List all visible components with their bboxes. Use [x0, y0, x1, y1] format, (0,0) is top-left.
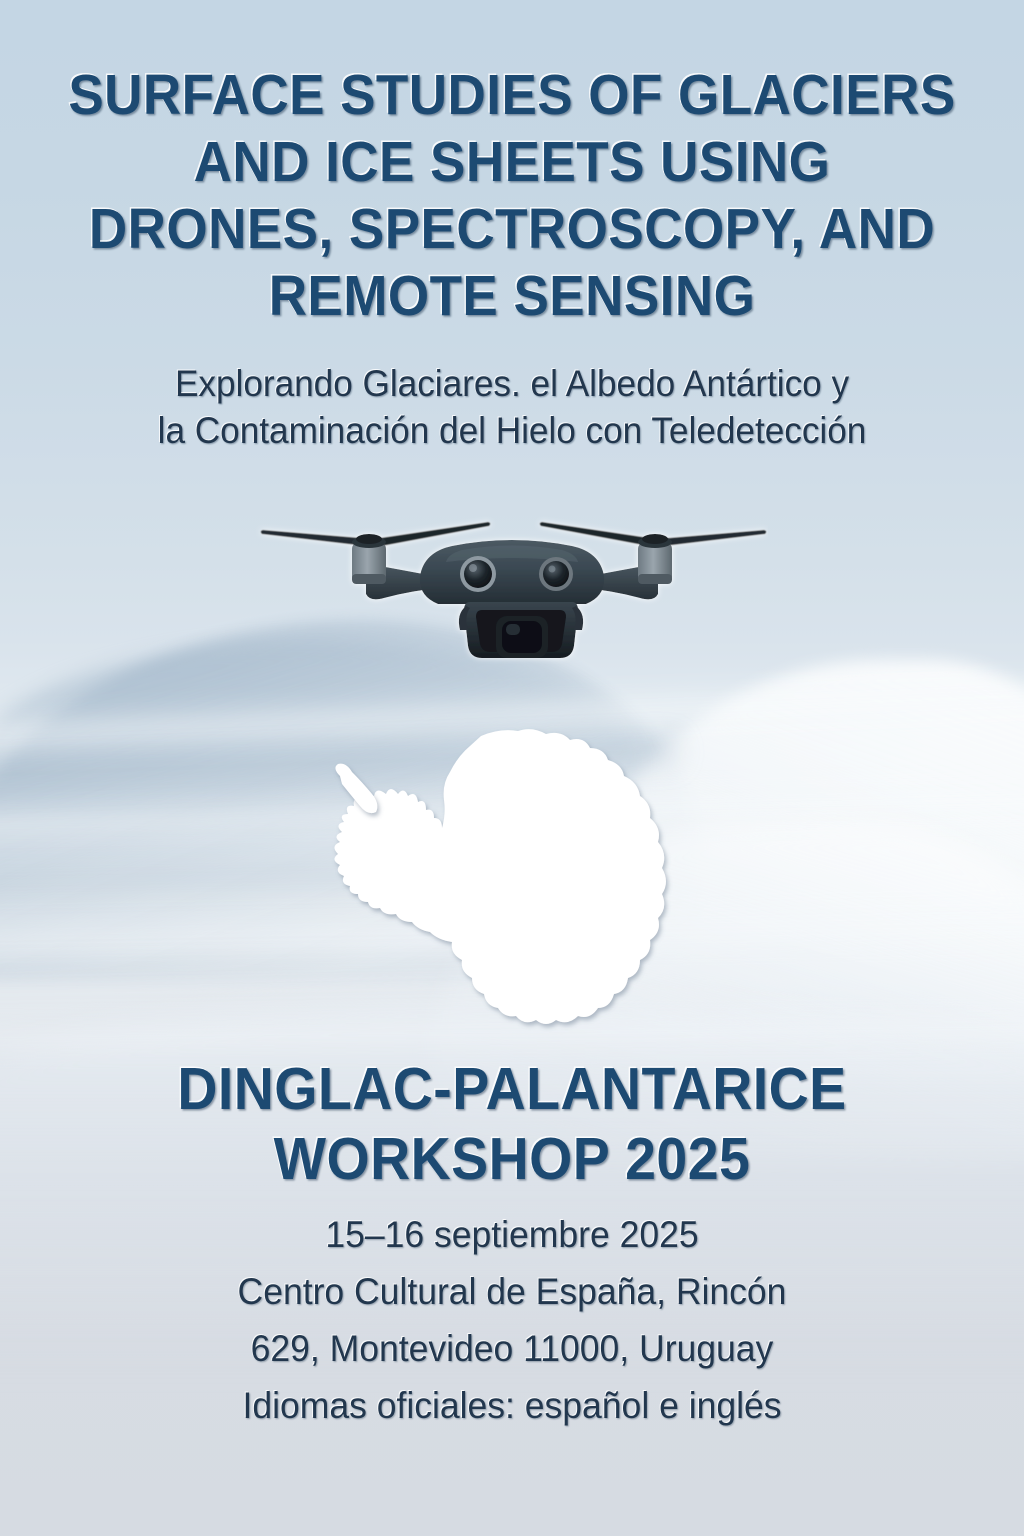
poster-subtitle-line-2: la Contaminación del Hielo con Teledetec… [26, 407, 999, 454]
antarctica-path [334, 729, 666, 1024]
poster-title: SURFACE STUDIES OF GLACIERS AND ICE SHEE… [36, 62, 988, 330]
event-languages: Idiomas oficiales: español e inglés [20, 1377, 1003, 1434]
camera-lens-highlight [506, 624, 520, 635]
event-title: DINGLAC-PALANTARICE WORKSHOP 2025 [31, 1054, 994, 1194]
sensor-lens-right [539, 557, 573, 591]
drone-illustration [256, 498, 768, 678]
poster-title-line-3: DRONES, SPECTROSCOPY, AND [36, 196, 988, 263]
event-address: 629, Montevideo 11000, Uruguay [20, 1320, 1003, 1377]
event-venue: Centro Cultural de España, Rincón [20, 1263, 1003, 1320]
event-details: 15–16 septiembre 2025 Centro Cultural de… [20, 1206, 1003, 1434]
antarctica-map-silhouette [318, 718, 718, 1048]
poster-title-line-1: SURFACE STUDIES OF GLACIERS [36, 62, 988, 129]
motor-pod-left [352, 534, 386, 584]
drone-group [261, 522, 767, 658]
event-title-line-1: DINGLAC-PALANTARICE [31, 1054, 994, 1124]
sensor-lens-left [460, 556, 496, 592]
poster-subtitle-line-1: Explorando Glaciares. el Albedo Antártic… [26, 360, 999, 407]
event-title-line-2: WORKSHOP 2025 [31, 1124, 994, 1194]
poster-subtitle: Explorando Glaciares. el Albedo Antártic… [26, 360, 999, 454]
motor-pod-right [638, 534, 672, 584]
event-date: 15–16 septiembre 2025 [20, 1206, 1003, 1263]
poster-title-line-4: REMOTE SENSING [36, 263, 988, 330]
poster-title-line-2: AND ICE SHEETS USING [36, 129, 988, 196]
poster-canvas: SURFACE STUDIES OF GLACIERS AND ICE SHEE… [0, 0, 1024, 1536]
